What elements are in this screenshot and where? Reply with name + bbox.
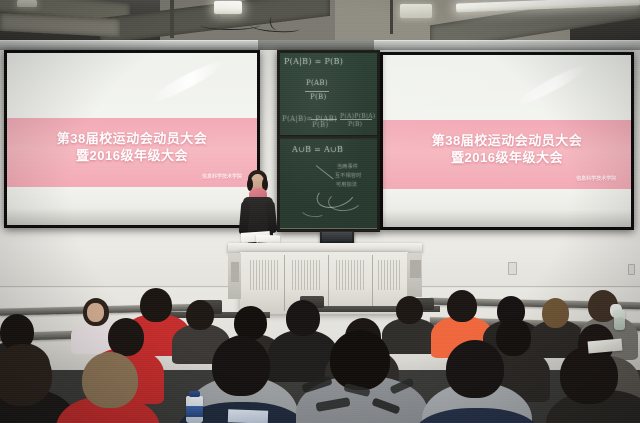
fluorescent-tube-left-icon (400, 4, 432, 18)
student-03-face (87, 303, 104, 322)
slide-bottom-band-right (383, 189, 631, 227)
notebook-2[interactable] (228, 409, 268, 423)
student-07-head (396, 296, 423, 324)
fluorescent-tube-far-left-icon (17, 0, 37, 7)
chalk-line-5: P(B) (312, 121, 329, 129)
chalk-tray (280, 228, 377, 229)
podium-door-seam-3 (372, 255, 373, 311)
student-04b-head (108, 318, 144, 356)
chalk-fraction-bar-1 (305, 91, 329, 92)
slide-title-line2-right: 暨2016级年级大会 (383, 150, 631, 166)
slide-title-line2-left: 暨2016级年级大会 (7, 148, 257, 164)
water-bottle-label (186, 406, 203, 417)
lecture-hall-scene: 第38届校运动会动员大会 暨2016级年级大会 信息科学技术学院 第38届校运动… (0, 0, 640, 423)
slide-title-line1-right: 第38届校运动会动员大会 (383, 133, 631, 149)
chalk-line-7: P(B) (348, 121, 362, 128)
slide-top-band-right (383, 55, 631, 120)
wall-outlet[interactable] (508, 262, 517, 275)
left-projection-screen[interactable]: 第38届校运动会动员大会 暨2016级年级大会 信息科学技术学院 (4, 50, 260, 228)
left-screen-surface: 第38届校运动会动员大会 暨2016级年级大会 信息科学技术学院 (7, 53, 257, 225)
chalk-line-2: P(AB) (306, 79, 328, 87)
student-front-01-head (0, 344, 52, 406)
camo-jacket-pattern (296, 376, 428, 423)
podium-shelf-right (410, 260, 421, 278)
chalk-line-1: P(A|B) = P(B) (284, 57, 343, 66)
right-projection-screen[interactable]: 第38届校运动会动员大会 暨2016级年级大会 信息科学技术学院 (380, 52, 634, 230)
slide-bottom-band-left (7, 187, 257, 225)
presenter-arm-right (265, 201, 277, 234)
blackboard-surface: P(A|B) = P(B) P(AB) P(B) P(A|B)= P(AB) P… (280, 53, 377, 229)
fluorescent-tube-center-icon (214, 1, 242, 14)
chalk-line-8: A∪B = A∪B (292, 145, 343, 154)
center-blackboard[interactable]: P(A|B) = P(B) P(AB) P(B) P(A|B)= P(AB) P… (277, 50, 380, 232)
podium-door-seam-1 (284, 255, 285, 311)
chalk-fraction-bar-2 (311, 119, 337, 120)
podium-vents-4 (378, 260, 402, 290)
student-front-grey-head (446, 340, 504, 398)
podium-monitor-screen (322, 232, 351, 242)
ceiling-beam-1 (170, 0, 174, 38)
student-05-head (234, 306, 267, 340)
student-front-right-head (560, 346, 618, 404)
chalk-line-3: P(B) (310, 93, 327, 101)
ceiling-beam-2 (390, 0, 393, 34)
podium-shelf-left (231, 262, 239, 282)
chalk-fraction-bar-3 (340, 119, 372, 120)
student-front-red-head (82, 352, 138, 408)
student-11-head (542, 298, 569, 328)
water-bottle[interactable] (186, 396, 203, 423)
chalk-line-10: 互不相容时 (335, 172, 362, 179)
slide-subtitle-right: 信息科学技术学院 (576, 175, 616, 182)
slide-title-line1-left: 第38届校运动会动员大会 (7, 131, 257, 147)
chalk-line-9: 当两事件 (337, 163, 358, 170)
water-bottle-2[interactable] (614, 310, 625, 330)
water-bottle-cap (189, 391, 200, 397)
chalk-pointer-line (316, 165, 334, 179)
student-front-hood-head (212, 336, 270, 396)
blackboard-divider (280, 135, 377, 139)
podium-vents-1 (250, 260, 278, 290)
podium-door-seam-2 (328, 255, 329, 311)
student-11b-head (496, 318, 531, 356)
student-02-head (186, 300, 214, 330)
student-13-head (286, 300, 320, 336)
right-screen-surface: 第38届校运动会动员大会 暨2016级年级大会 信息科学技术学院 (383, 55, 631, 227)
podium-vents-3 (336, 260, 366, 290)
student-04-head (140, 288, 172, 322)
student-09-head (447, 290, 477, 322)
podium-cabinet[interactable] (240, 252, 408, 314)
wall-outlet-2[interactable] (628, 264, 635, 275)
podium-vents-2 (292, 260, 322, 290)
